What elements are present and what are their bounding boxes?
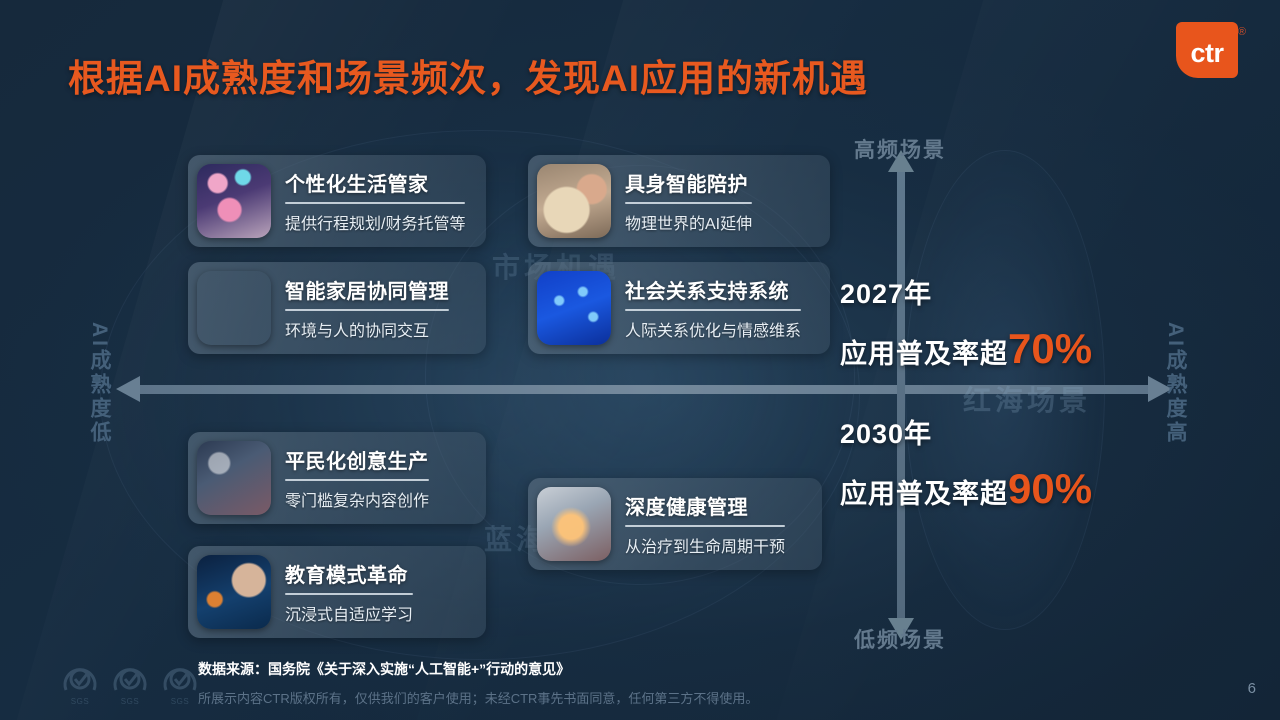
axis-label-maturity-low: AI成熟度低 [84, 322, 114, 445]
opportunity-card[interactable]: 个性化生活管家 提供行程规划/财务托管等 [188, 155, 486, 247]
sgs-badge-icon: SGS [108, 660, 152, 706]
opportunity-card[interactable]: 平民化创意生产 零门槛复杂内容创作 [188, 432, 486, 524]
sgs-badge-icon: SGS [158, 660, 202, 706]
stat-line: 应用普及率超 70% [840, 325, 1092, 373]
card-subtitle: 物理世界的AI延伸 [625, 210, 752, 234]
sgs-label: SGS [58, 697, 102, 706]
card-body: 教育模式革命 沉浸式自适应学习 [285, 559, 413, 625]
stat-block-2027: 2027年 应用普及率超 70% [840, 272, 1092, 373]
card-subtitle: 从治疗到生命周期干预 [625, 533, 785, 557]
horizontal-axis-arrow [138, 385, 1150, 394]
card-title: 社会关系支持系统 [625, 275, 801, 304]
stat-block-2030: 2030年 应用普及率超 90% [840, 412, 1092, 513]
stat-value: 90% [1008, 465, 1092, 513]
card-divider [285, 593, 413, 595]
card-subtitle: 环境与人的协同交互 [285, 317, 449, 341]
card-divider [285, 202, 465, 204]
card-body: 具身智能陪护 物理世界的AI延伸 [625, 168, 752, 234]
page-number: 6 [1248, 680, 1256, 697]
personal-life-assistant-image [197, 164, 271, 238]
registered-trademark-icon: ® [1238, 26, 1246, 38]
background-sheen [417, 0, 883, 720]
opportunity-card[interactable]: 深度健康管理 从治疗到生命周期干预 [528, 478, 822, 570]
card-divider [285, 479, 429, 481]
logo-text: ctr [1190, 33, 1223, 67]
opportunity-card[interactable]: 教育模式革命 沉浸式自适应学习 [188, 546, 486, 638]
page-title: 根据AI成熟度和场景频次，发现AI应用的新机遇 [68, 48, 868, 102]
sgs-badge-icon: SGS [58, 660, 102, 706]
axis-label-maturity-high: AI成熟度高 [1160, 322, 1190, 445]
robot-pet-companion-image [537, 164, 611, 238]
card-body: 个性化生活管家 提供行程规划/财务托管等 [285, 168, 465, 234]
card-title: 智能家居协同管理 [285, 275, 449, 304]
card-subtitle: 人际关系优化与情感维系 [625, 317, 801, 341]
copyright-note: 所展示内容CTR版权所有，仅供我们的客户使用；未经CTR事先书面同意，任何第三方… [198, 688, 758, 707]
smart-home-image [197, 271, 271, 345]
creative-production-image [197, 441, 271, 515]
slide-canvas: 根据AI成熟度和场景频次，发现AI应用的新机遇 ctr ® 高频场景 低频场景 … [0, 0, 1280, 720]
card-title: 教育模式革命 [285, 559, 413, 588]
card-body: 社会关系支持系统 人际关系优化与情感维系 [625, 275, 801, 341]
card-subtitle: 提供行程规划/财务托管等 [285, 210, 465, 234]
card-subtitle: 沉浸式自适应学习 [285, 601, 413, 625]
card-body: 深度健康管理 从治疗到生命周期干预 [625, 491, 785, 557]
card-divider [625, 525, 785, 527]
vertical-axis-arrow [897, 170, 905, 620]
source-note: 数据来源：国务院《关于深入实施“人工智能+”行动的意见》 [198, 659, 570, 679]
certification-badges: SGS SGS SGS [58, 660, 202, 706]
sgs-label: SGS [108, 697, 152, 706]
card-body: 平民化创意生产 零门槛复杂内容创作 [285, 445, 429, 511]
card-title: 具身智能陪护 [625, 168, 752, 197]
opportunity-card[interactable]: 智能家居协同管理 环境与人的协同交互 [188, 262, 486, 354]
card-divider [285, 309, 449, 311]
ctr-logo: ctr [1176, 22, 1238, 78]
health-management-image [537, 487, 611, 561]
card-divider [625, 309, 801, 311]
card-body: 智能家居协同管理 环境与人的协同交互 [285, 275, 449, 341]
education-image [197, 555, 271, 629]
opportunity-card[interactable]: 具身智能陪护 物理世界的AI延伸 [528, 155, 830, 247]
stat-year: 2030年 [840, 412, 1092, 451]
stat-value: 70% [1008, 325, 1092, 373]
stat-label: 应用普及率超 [840, 472, 1008, 511]
sgs-label: SGS [158, 697, 202, 706]
card-subtitle: 零门槛复杂内容创作 [285, 487, 429, 511]
social-network-image [537, 271, 611, 345]
opportunity-card[interactable]: 社会关系支持系统 人际关系优化与情感维系 [528, 262, 830, 354]
stat-line: 应用普及率超 90% [840, 465, 1092, 513]
stat-year: 2027年 [840, 272, 1092, 311]
stat-label: 应用普及率超 [840, 332, 1008, 371]
axis-label-high-frequency: 高频场景 [854, 134, 946, 164]
card-title: 平民化创意生产 [285, 445, 429, 474]
card-divider [625, 202, 752, 204]
card-title: 个性化生活管家 [285, 168, 465, 197]
axis-label-low-frequency: 低频场景 [854, 624, 946, 654]
card-title: 深度健康管理 [625, 491, 785, 520]
